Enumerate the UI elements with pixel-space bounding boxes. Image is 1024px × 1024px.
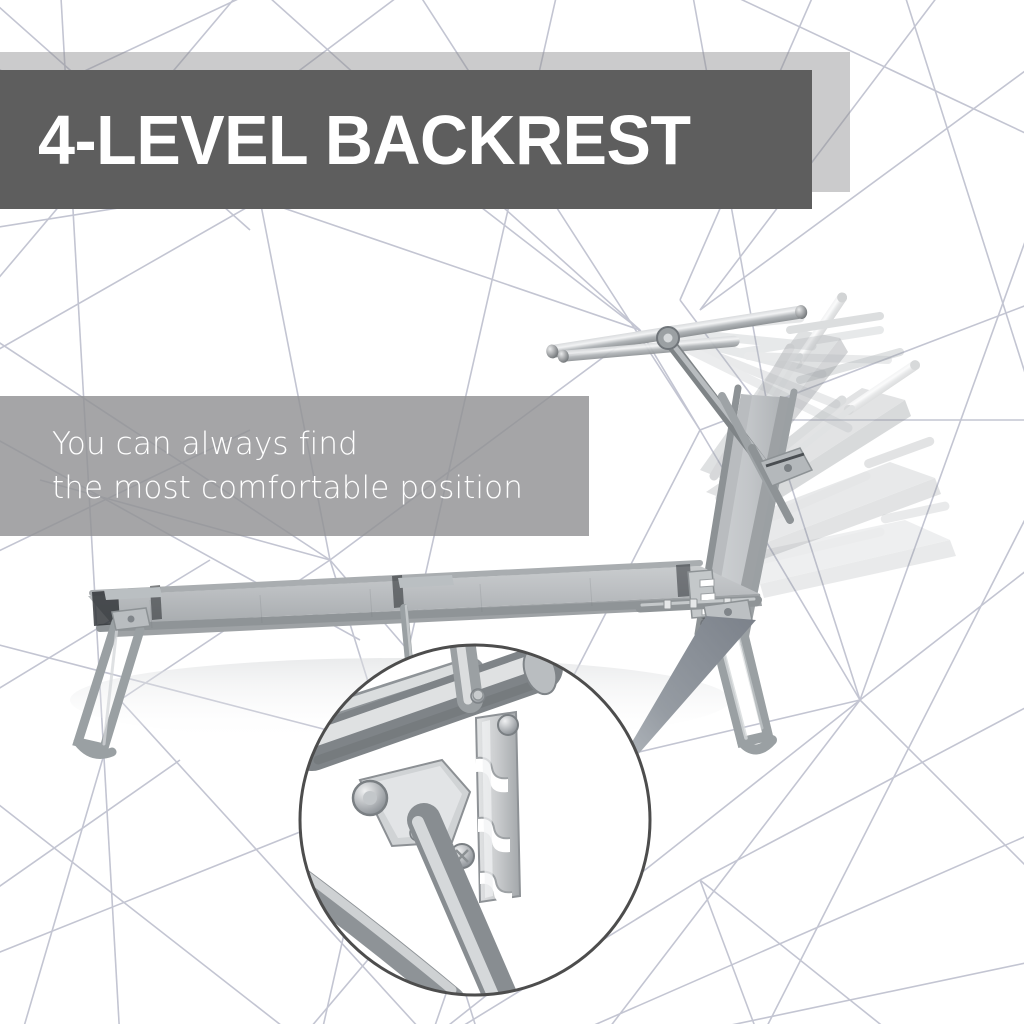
notched-lock-plate: [476, 712, 520, 904]
product-feature-banner: 4-LEVEL BACKREST: [0, 0, 1024, 1024]
subtitle-line-2: the most comfortable position: [52, 466, 582, 510]
subtitle-line-1: You can always find: [52, 422, 582, 466]
subtitle-text: You can always find the most comfortable…: [52, 396, 582, 536]
